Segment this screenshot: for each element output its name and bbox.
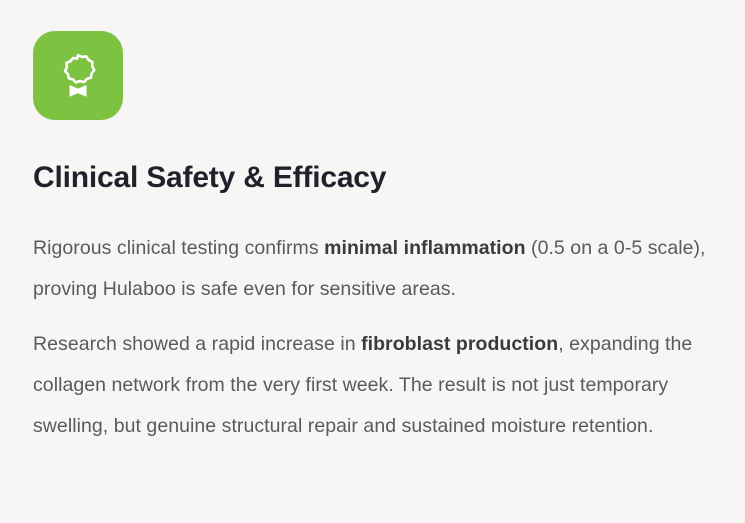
emphasis-minimal-inflammation: minimal inflammation — [324, 237, 525, 259]
text-segment: Research showed a rapid increase in — [33, 333, 361, 355]
text-segment: Rigorous clinical testing confirms — [33, 237, 324, 259]
page-title: Clinical Safety & Efficacy — [33, 160, 386, 196]
paragraph-safety: Rigorous clinical testing confirms minim… — [33, 228, 723, 310]
body-copy: Rigorous clinical testing confirms minim… — [33, 228, 723, 447]
paragraph-efficacy: Research showed a rapid increase in fibr… — [33, 324, 723, 447]
clinical-safety-card: Clinical Safety & Efficacy Rigorous clin… — [0, 0, 745, 523]
award-badge-icon-tile — [33, 31, 123, 120]
emphasis-fibroblast-production: fibroblast production — [361, 333, 558, 355]
award-badge-icon — [57, 51, 99, 101]
